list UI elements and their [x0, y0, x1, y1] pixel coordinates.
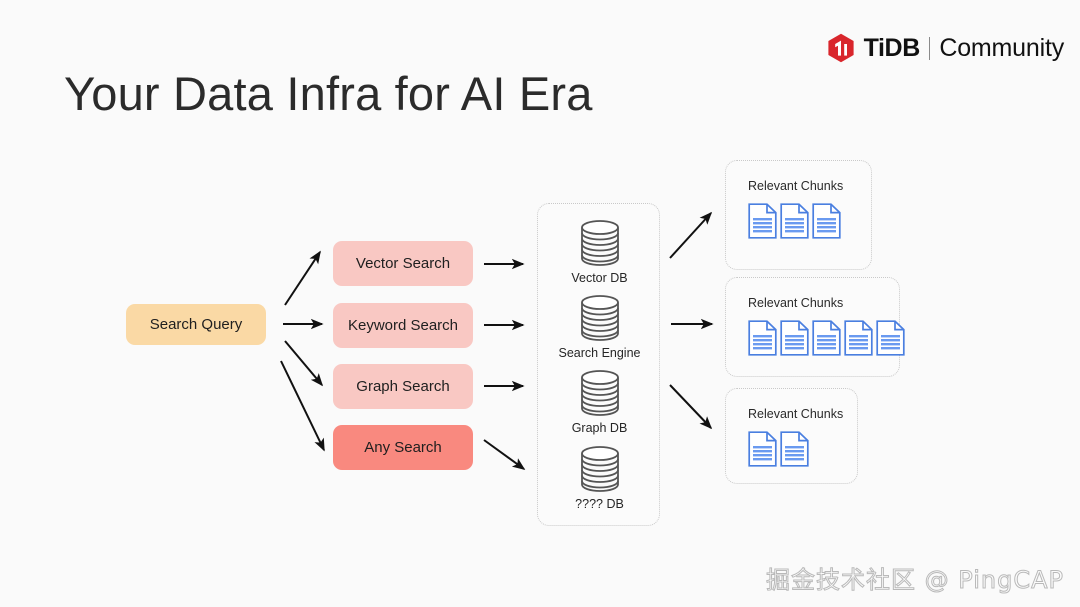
document-icon	[748, 320, 777, 356]
relevant-chunks-title: Relevant Chunks	[748, 407, 857, 421]
database-node-unknown-db[interactable]: ???? DB	[538, 444, 661, 511]
watermark: 掘金技术社区 @ PingCAP	[766, 560, 1064, 595]
search-type-node-graph[interactable]: Graph Search	[333, 364, 473, 409]
document-icon-group	[748, 431, 857, 467]
document-icon	[812, 320, 841, 356]
relevant-chunks-title: Relevant Chunks	[748, 179, 871, 193]
document-icon	[780, 320, 809, 356]
document-icon	[812, 203, 841, 239]
document-icon	[780, 431, 809, 467]
database-label: Search Engine	[558, 346, 640, 360]
database-label: Vector DB	[571, 271, 627, 285]
document-icon	[876, 320, 905, 356]
database-cylinder-icon	[572, 293, 628, 343]
document-icon	[844, 320, 873, 356]
database-label: ???? DB	[575, 497, 624, 511]
database-cylinder-icon	[572, 368, 628, 418]
relevant-chunks-box-3[interactable]: Relevant Chunks	[725, 388, 858, 484]
document-icon	[780, 203, 809, 239]
search-type-node-keyword[interactable]: Keyword Search	[333, 303, 473, 348]
relevant-chunks-box-2[interactable]: Relevant Chunks	[725, 277, 900, 377]
database-node-search-engine[interactable]: Search Engine	[538, 293, 661, 360]
database-cylinder-icon	[572, 444, 628, 494]
search-type-node-vector[interactable]: Vector Search	[333, 241, 473, 286]
relevant-chunks-box-1[interactable]: Relevant Chunks	[725, 160, 872, 270]
document-icon-group	[748, 203, 871, 239]
document-icon	[748, 431, 777, 467]
relevant-chunks-title: Relevant Chunks	[748, 296, 899, 310]
search-query-node[interactable]: Search Query	[126, 304, 266, 345]
search-type-node-any[interactable]: Any Search	[333, 425, 473, 470]
database-group-container: Vector DB Search Engine	[537, 203, 660, 526]
database-node-graph-db[interactable]: Graph DB	[538, 368, 661, 435]
database-cylinder-icon	[572, 218, 628, 268]
document-icon-group	[748, 320, 899, 356]
database-node-vector-db[interactable]: Vector DB	[538, 218, 661, 285]
document-icon	[748, 203, 777, 239]
architecture-diagram: Search Query Vector Search Keyword Searc…	[0, 0, 1080, 607]
database-label: Graph DB	[572, 421, 628, 435]
